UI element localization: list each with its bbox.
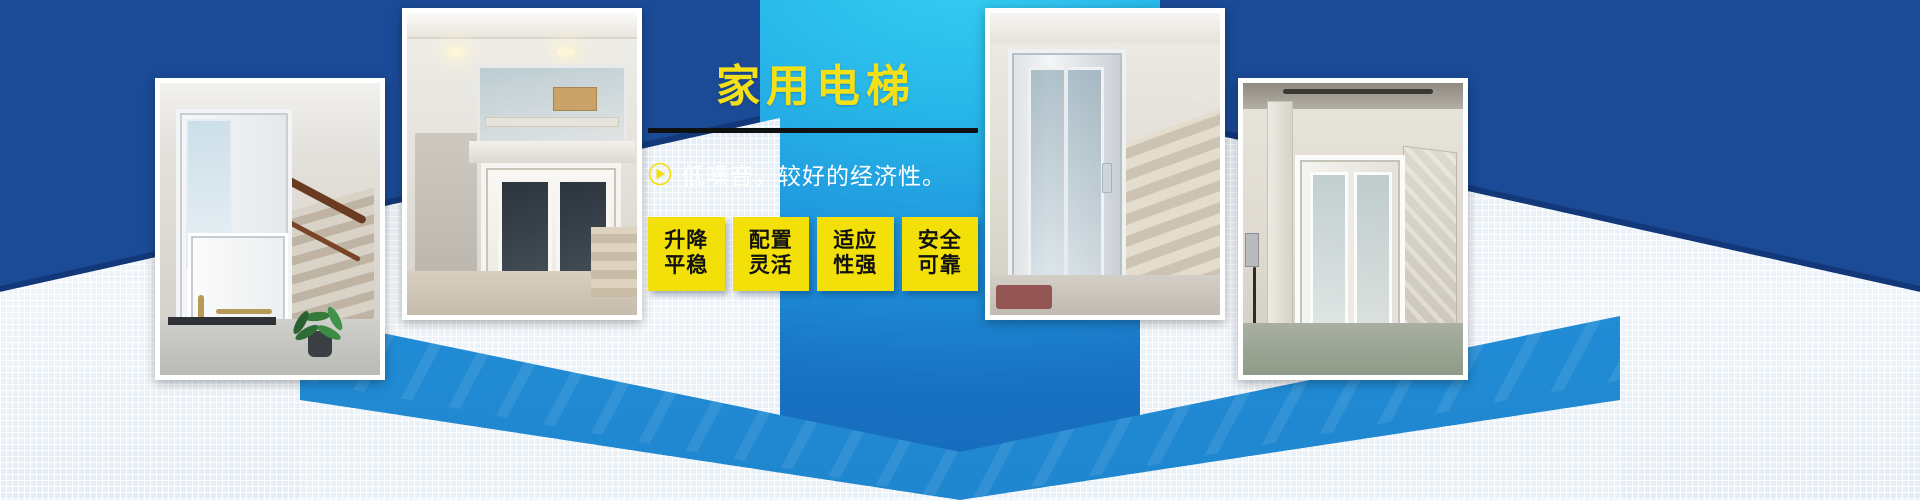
- home-elevator-banner: 家用电梯 低噪音，较好的经济性。 升降 平稳 配置 灵活 适应 性强: [0, 0, 1920, 500]
- feature-badge-3-line2: 性强: [833, 254, 877, 279]
- banner-copy-block: 家用电梯 低噪音，较好的经济性。 升降 平稳 配置 灵活 适应 性强: [648, 64, 978, 291]
- banner-subtitle-text: 低噪音，较好的经济性。: [682, 157, 946, 191]
- circled-play-arrow-icon: [648, 162, 672, 186]
- feature-badge-4-line2: 可靠: [918, 254, 962, 279]
- feature-badge-3[interactable]: 适应 性强: [817, 217, 894, 291]
- page-title: 家用电梯: [648, 64, 978, 110]
- feature-badge-2-line1: 配置: [749, 229, 793, 254]
- home-elevator-showroom-photo: [402, 8, 642, 320]
- feature-badge-list: 升降 平稳 配置 灵活 适应 性强 安全 可靠: [648, 217, 978, 291]
- title-divider: [648, 128, 978, 133]
- photo-scene-showroom: [407, 13, 637, 315]
- feature-badge-1[interactable]: 升降 平稳: [648, 217, 725, 291]
- photo-scene-hallway: [160, 83, 380, 375]
- home-elevator-installation-photo: [1238, 78, 1468, 380]
- feature-badge-1-line1: 升降: [664, 229, 708, 254]
- feature-badge-1-line2: 平稳: [664, 254, 708, 279]
- banner-subtitle-row: 低噪音，较好的经济性。: [648, 157, 978, 191]
- feature-badge-3-line1: 适应: [833, 229, 877, 254]
- photo-scene-staircase: [990, 13, 1220, 315]
- home-elevator-hallway-photo: [155, 78, 385, 380]
- feature-badge-2[interactable]: 配置 灵活: [733, 217, 810, 291]
- home-elevator-staircase-photo: [985, 8, 1225, 320]
- feature-badge-4-line1: 安全: [918, 229, 962, 254]
- photo-scene-installation: [1243, 83, 1463, 375]
- feature-badge-4[interactable]: 安全 可靠: [902, 217, 979, 291]
- feature-badge-2-line2: 灵活: [749, 254, 793, 279]
